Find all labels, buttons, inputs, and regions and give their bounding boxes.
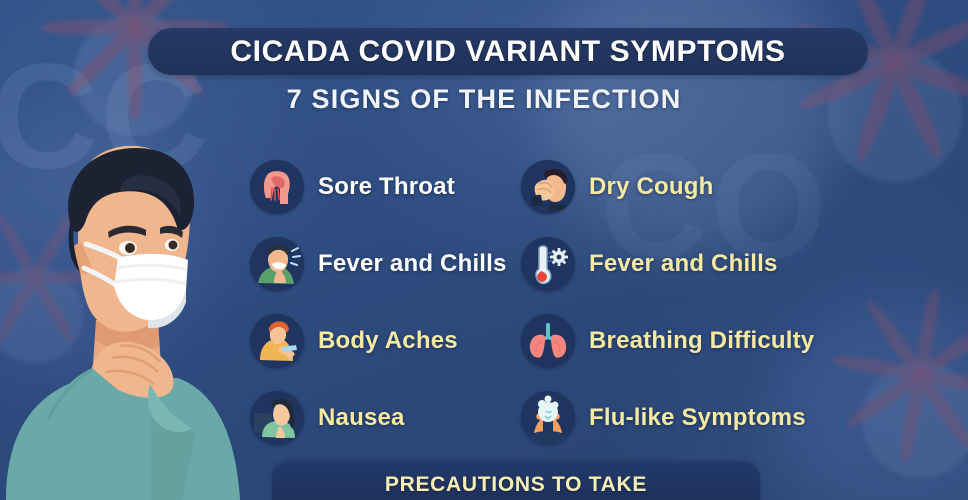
symptom-item-fever-and-chills-left[interactable]: Fever and Chills [250, 225, 507, 302]
symptom-label: Fever and Chills [318, 250, 507, 278]
symptom-item-nausea[interactable]: Nausea [250, 379, 507, 456]
symptom-column-right: Dry Cough [521, 148, 814, 456]
title-banner: CICADA COVID VARIANT SYMPTOMS [148, 28, 868, 75]
symptom-label: Dry Cough [589, 173, 713, 201]
symptom-label: Fever and Chills [589, 250, 778, 278]
body-aches-icon [250, 314, 304, 368]
precautions-label: PRECAUTIONS TO TAKE [385, 473, 647, 497]
symptom-item-sore-throat[interactable]: Sore Throat [250, 148, 507, 225]
washing-hands-icon [521, 391, 575, 445]
nausea-woman-icon [250, 391, 304, 445]
infographic-canvas: CC CO [0, 0, 968, 500]
symptom-item-body-aches[interactable]: Body Aches [250, 302, 507, 379]
page-title: CICADA COVID VARIANT SYMPTOMS [230, 35, 785, 69]
virus-particle-icon [830, 330, 968, 500]
masked-man-illustration [0, 140, 250, 500]
symptom-label: Flu-like Symptoms [589, 404, 806, 432]
page-subtitle: 7 SIGNS OF THE INFECTION [0, 84, 968, 115]
symptom-label: Body Aches [318, 327, 458, 355]
symptom-item-dry-cough[interactable]: Dry Cough [521, 148, 814, 225]
symptom-item-fever-and-chills-right[interactable]: Fever and Chills [521, 225, 814, 302]
symptom-column-left: Sore Throat Fever and Chills [250, 148, 507, 456]
dry-cough-icon [521, 160, 575, 214]
symptom-label: Nausea [318, 404, 405, 432]
symptom-item-breathing-difficulty[interactable]: Breathing Difficulty [521, 302, 814, 379]
sick-person-icon [250, 237, 304, 291]
sore-throat-icon [250, 160, 304, 214]
symptom-label: Sore Throat [318, 173, 455, 201]
lungs-icon [521, 314, 575, 368]
precautions-banner[interactable]: PRECAUTIONS TO TAKE [272, 462, 760, 500]
symptom-label: Breathing Difficulty [589, 327, 814, 355]
thermometer-icon [521, 237, 575, 291]
symptom-item-flu-like-symptoms[interactable]: Flu-like Symptoms [521, 379, 814, 456]
